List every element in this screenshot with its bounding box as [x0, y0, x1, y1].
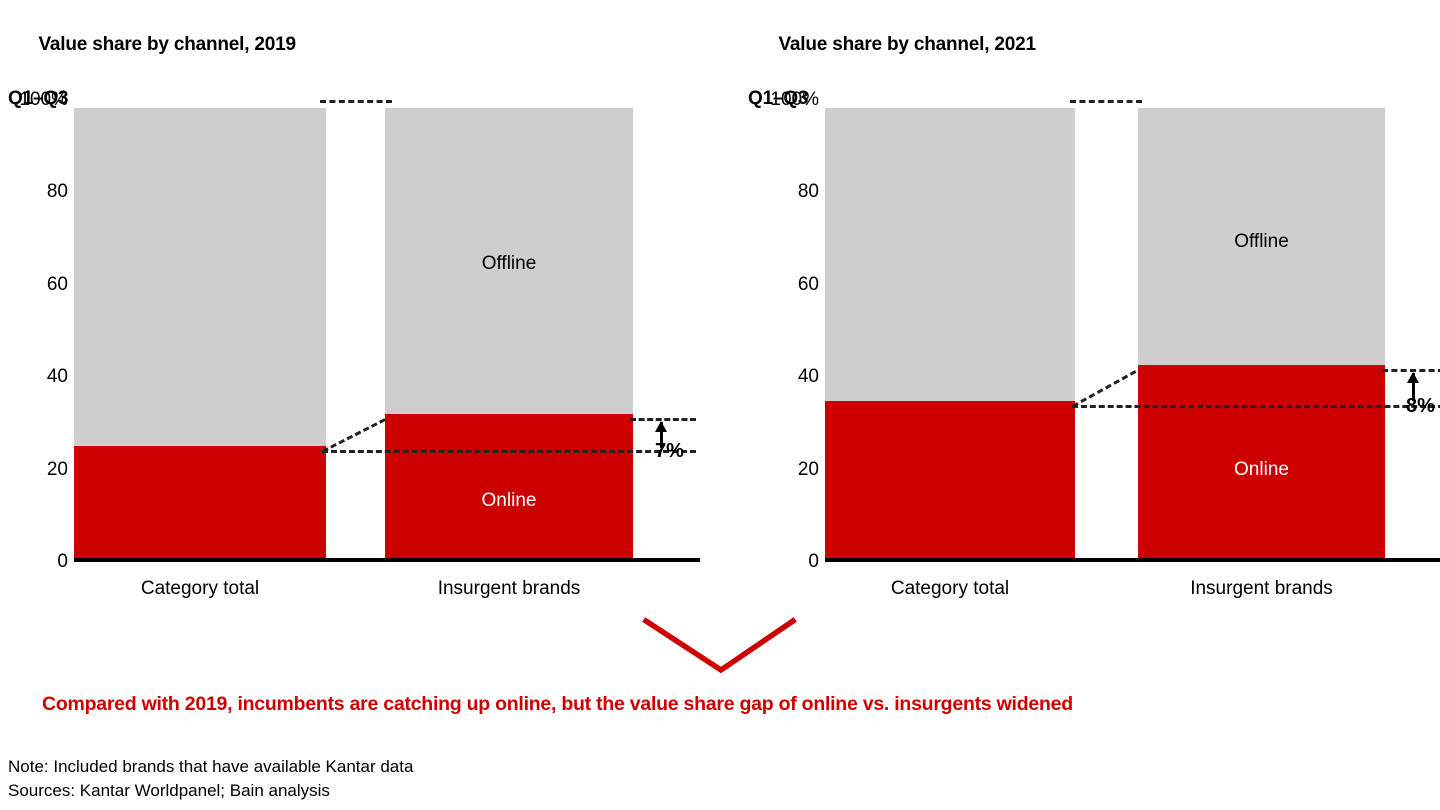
dashed-leader-diagonal-2019	[322, 418, 386, 452]
chart-title-2019-line1: Value share by channel, 2019	[38, 34, 295, 55]
dashed-leader-diagonal-2021	[1072, 370, 1136, 408]
bar-segment-online-2019-category	[74, 446, 326, 559]
chart-panel-2019: Value share by channel, 2019 Q1–Q3 100% …	[0, 0, 700, 625]
callout-text: Compared with 2019, incumbents are catch…	[42, 692, 1073, 716]
bar-segment-online-2021-category	[825, 401, 1075, 559]
dashed-reference-line-2019	[322, 450, 696, 453]
x-axis-line-2021	[825, 558, 1440, 562]
dashed-connector-top-2021	[1070, 100, 1142, 103]
bar-insurgent-brands-2021: Offline Online	[1138, 108, 1385, 558]
bar-label-offline-2019: Offline	[385, 254, 633, 273]
chart-title-2021-line1: Value share by channel, 2021	[778, 34, 1035, 55]
x-label-category-total-2019: Category total	[74, 578, 326, 599]
bar-category-total-2019	[74, 108, 326, 558]
footnote-sources: Sources: Kantar Worldpanel; Bain analysi…	[8, 779, 413, 803]
bar-segment-online-2019-insurgent	[385, 414, 633, 558]
x-label-insurgent-brands-2019: Insurgent brands	[385, 578, 633, 599]
delta-arrow-head-2021	[1407, 372, 1419, 383]
dashed-connector-top-2019	[320, 100, 392, 103]
plot-area-2021: Offline Online 8%	[740, 100, 1440, 562]
x-label-category-total-2021: Category total	[825, 578, 1075, 599]
x-label-insurgent-brands-2021: Insurgent brands	[1138, 578, 1385, 599]
bar-label-online-2021: Online	[1138, 460, 1385, 479]
delta-label-2021: 8%	[1406, 396, 1435, 416]
dashed-reference-line-2021	[1072, 405, 1440, 408]
bar-label-offline-2021: Offline	[1138, 232, 1385, 251]
delta-label-2019: 7%	[655, 441, 684, 461]
chart-canvas: Value share by channel, 2019 Q1–Q3 100% …	[0, 0, 1440, 810]
bar-segment-offline-2019-category	[74, 108, 326, 446]
bar-insurgent-brands-2019: Offline Online	[385, 108, 633, 558]
x-axis-line-2019	[74, 558, 700, 562]
delta-arrow-head-2019	[655, 421, 667, 432]
callout-chevron-icon	[620, 600, 820, 690]
footnote-note: Note: Included brands that have availabl…	[8, 755, 413, 779]
bar-segment-offline-2021-category	[825, 108, 1075, 401]
bar-label-online-2019: Online	[385, 491, 633, 510]
bar-category-total-2021	[825, 108, 1075, 558]
footnotes: Note: Included brands that have availabl…	[8, 755, 413, 803]
plot-area-2019: Offline Online 7%	[0, 100, 700, 562]
chart-panel-2021: Value share by channel, 2021 Q1–Q3 100% …	[740, 0, 1440, 625]
